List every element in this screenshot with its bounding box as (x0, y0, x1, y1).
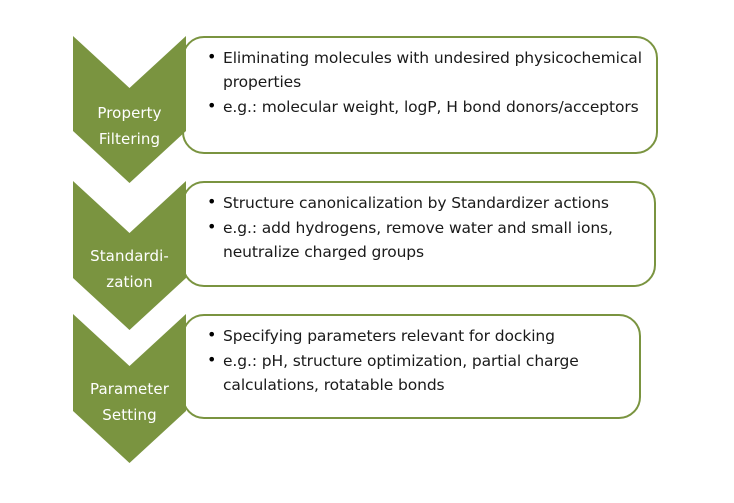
list-item: Eliminating molecules with undesired phy… (206, 46, 646, 94)
chevron-label-line: Setting (73, 402, 186, 428)
list-item: Structure canonicalization by Standardiz… (206, 191, 644, 215)
chevron-label-parameter-setting: Parameter Setting (73, 376, 186, 428)
chevron-label-standardization: Standardi- zation (73, 243, 186, 295)
chevron-shape-standardization: Standardi- zation (73, 181, 186, 331)
list-item: e.g.: add hydrogens, remove water and sm… (206, 216, 644, 264)
diagram-canvas: Eliminating molecules with undesired phy… (0, 0, 734, 503)
process-step-property-filtering: Eliminating molecules with undesired phy… (73, 36, 673, 184)
chevron-label-property-filtering: Property Filtering (73, 100, 186, 152)
process-step-standardization: Structure canonicalization by Standardiz… (73, 181, 673, 331)
detail-box-property-filtering: Eliminating molecules with undesired phy… (182, 36, 658, 154)
list-item: Specifying parameters relevant for docki… (206, 324, 629, 348)
detail-box-parameter-setting: Specifying parameters relevant for docki… (182, 314, 641, 419)
chevron-label-line: Property (73, 100, 186, 126)
process-step-parameter-setting: Specifying parameters relevant for docki… (73, 314, 673, 464)
chevron-label-line: Filtering (73, 126, 186, 152)
chevron-label-line: Parameter (73, 376, 186, 402)
bullet-list-standardization: Structure canonicalization by Standardiz… (206, 191, 644, 265)
chevron-label-line: Standardi- (73, 243, 186, 269)
detail-box-standardization: Structure canonicalization by Standardiz… (182, 181, 656, 287)
bullet-list-property-filtering: Eliminating molecules with undesired phy… (206, 46, 646, 120)
list-item: e.g.: pH, structure optimization, partia… (206, 349, 629, 397)
chevron-label-line: zation (73, 269, 186, 295)
chevron-shape-parameter-setting: Parameter Setting (73, 314, 186, 464)
chevron-shape-property-filtering: Property Filtering (73, 36, 186, 184)
list-item: e.g.: molecular weight, logP, H bond don… (206, 95, 646, 119)
bullet-list-parameter-setting: Specifying parameters relevant for docki… (206, 324, 629, 398)
